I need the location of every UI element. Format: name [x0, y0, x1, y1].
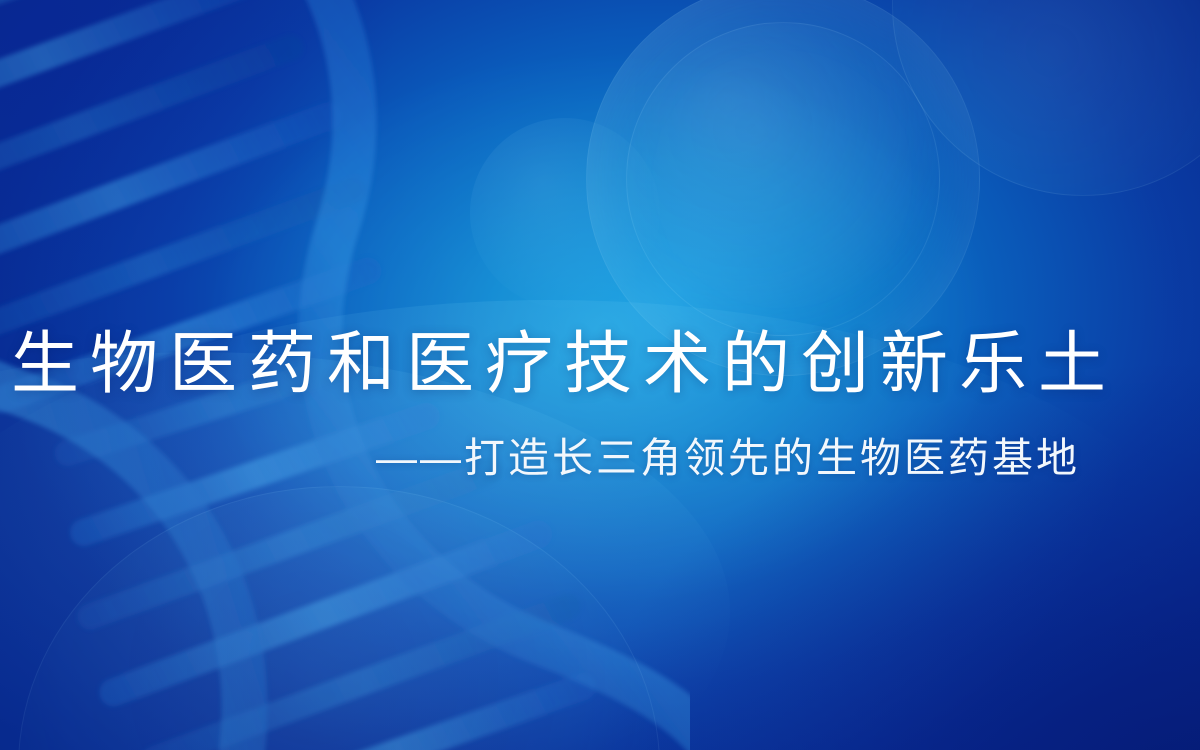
sphere-decoration-top-right [892, 0, 1200, 196]
hero-banner: 生物医药和医疗技术的创新乐土 ——打造长三角领先的生物医药基地 [0, 0, 1200, 750]
